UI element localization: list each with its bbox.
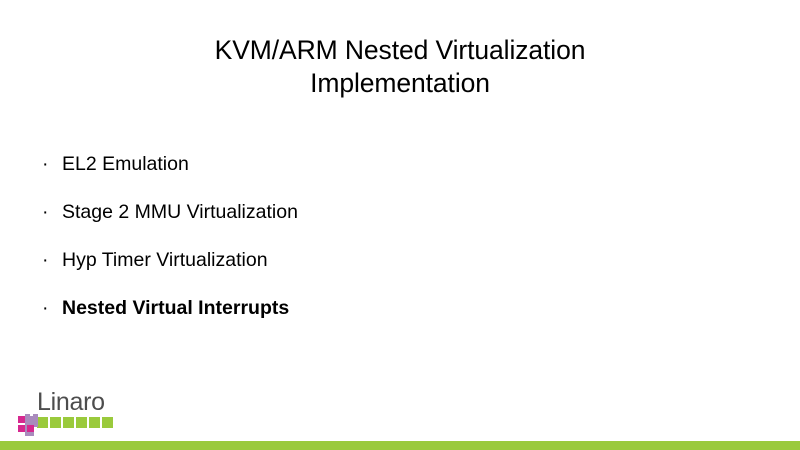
- list-item: · Stage 2 MMU Virtualization: [40, 198, 740, 246]
- list-item-label: EL2 Emulation: [62, 150, 189, 178]
- presentation-slide: KVM/ARM Nested Virtualization Implementa…: [0, 0, 800, 450]
- bullet-marker-icon: ·: [42, 294, 54, 322]
- slide-bottom-bar: [0, 441, 800, 450]
- slide-title-line-2: Implementation: [0, 67, 800, 100]
- linaro-accent-icon: [18, 412, 118, 442]
- linaro-logo: Linaro: [18, 388, 138, 440]
- bullet-list: · EL2 Emulation · Stage 2 MMU Virtualiza…: [40, 150, 740, 342]
- bullet-marker-icon: ·: [42, 150, 54, 178]
- bullet-marker-icon: ·: [42, 246, 54, 274]
- list-item-label: Hyp Timer Virtualization: [62, 246, 268, 274]
- logo-accent-magenta: [18, 416, 25, 423]
- list-item: · Hyp Timer Virtualization: [40, 246, 740, 294]
- list-item: · Nested Virtual Interrupts: [40, 294, 740, 342]
- bullet-marker-icon: ·: [42, 198, 54, 226]
- logo-accent-magenta: [27, 425, 34, 432]
- logo-accent-highlight: [30, 413, 33, 416]
- list-item-label: Stage 2 MMU Virtualization: [62, 198, 298, 226]
- list-item-label: Nested Virtual Interrupts: [62, 294, 289, 322]
- list-item: · EL2 Emulation: [40, 150, 740, 198]
- slide-title-line-1: KVM/ARM Nested Virtualization: [0, 34, 800, 67]
- slide-title: KVM/ARM Nested Virtualization Implementa…: [0, 34, 800, 100]
- logo-accent-magenta: [18, 425, 25, 432]
